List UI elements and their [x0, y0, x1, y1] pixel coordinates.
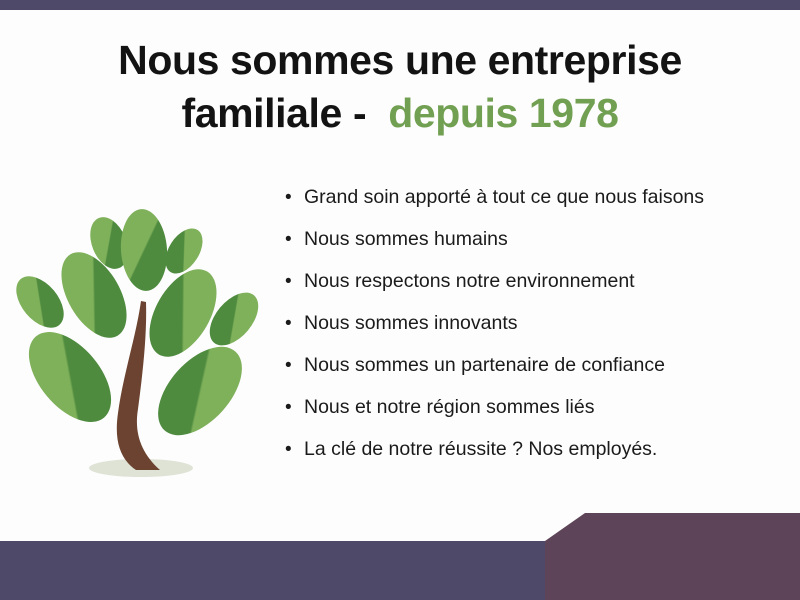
- tree-illustration: [8, 185, 278, 485]
- bullet-marker-icon: •: [285, 356, 304, 375]
- bullet-marker-icon: •: [285, 440, 304, 459]
- list-item-label: Grand soin apporté à tout ce que nous fa…: [304, 186, 704, 209]
- tree-illustration-svg: [8, 185, 278, 485]
- page-title-line-2-plain: familiale -: [181, 90, 366, 136]
- list-item: • Nous et notre région sommes liés: [285, 396, 785, 438]
- footer-band-right: [545, 513, 800, 600]
- footer-band-shape: [0, 500, 800, 600]
- list-item: • Nous respectons notre environnement: [285, 270, 785, 312]
- list-item: • La clé de notre réussite ? Nos employé…: [285, 438, 785, 480]
- list-item: • Grand soin apporté à tout ce que nous …: [285, 186, 785, 228]
- page-title-line-2: familiale - depuis 1978: [0, 87, 800, 140]
- list-item-label: Nous sommes humains: [304, 228, 508, 251]
- page-title: Nous sommes une entreprise familiale - d…: [0, 34, 800, 141]
- page-title-line-1: Nous sommes une entreprise: [0, 34, 800, 87]
- bullet-marker-icon: •: [285, 188, 304, 207]
- bullet-marker-icon: •: [285, 230, 304, 249]
- footer-band: tabor-automobiles.fr: [0, 500, 800, 600]
- list-item-label: Nous sommes un partenaire de confiance: [304, 354, 665, 377]
- list-item: • Nous sommes humains: [285, 228, 785, 270]
- list-item-label: La clé de notre réussite ? Nos employés.: [304, 438, 657, 461]
- bullet-marker-icon: •: [285, 398, 304, 417]
- top-accent-bar: [0, 0, 800, 10]
- bullet-marker-icon: •: [285, 272, 304, 291]
- tree-leaf: [118, 207, 170, 292]
- list-item-label: Nous sommes innovants: [304, 312, 518, 335]
- page-title-accent: depuis 1978: [388, 90, 618, 136]
- list-item-label: Nous respectons notre environnement: [304, 270, 635, 293]
- bullet-marker-icon: •: [285, 314, 304, 333]
- slide-canvas: Nous sommes une entreprise familiale - d…: [0, 0, 800, 600]
- value-bullet-list: • Grand soin apporté à tout ce que nous …: [285, 186, 785, 480]
- list-item-label: Nous et notre région sommes liés: [304, 396, 594, 419]
- list-item: • Nous sommes un partenaire de confiance: [285, 354, 785, 396]
- list-item: • Nous sommes innovants: [285, 312, 785, 354]
